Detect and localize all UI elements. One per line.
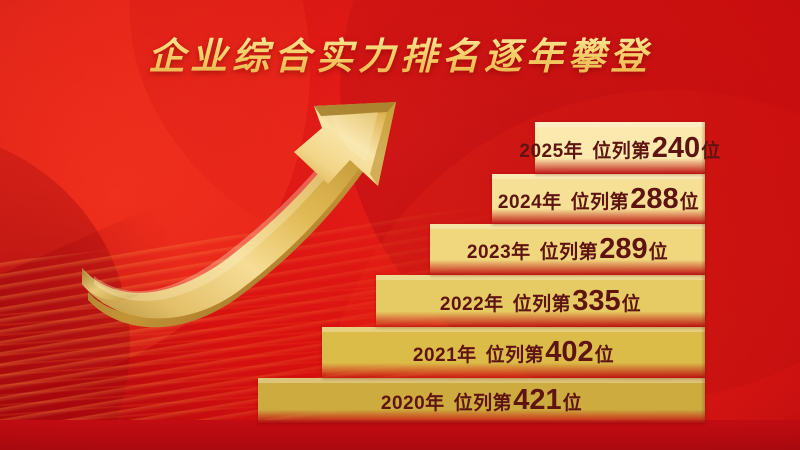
step-rank-value: 402 — [545, 338, 593, 367]
step-label: 2020年位列第421位 — [381, 386, 582, 415]
step-rank-value: 240 — [652, 134, 700, 163]
step-edge-shadow — [701, 174, 705, 224]
step-rank-suffix: 位 — [595, 340, 615, 367]
step-2023: 2023年位列第289位 — [430, 224, 705, 275]
step-rank-suffix: 位 — [563, 388, 583, 415]
step-tread — [492, 174, 705, 179]
step-label: 2024年位列第288位 — [498, 185, 699, 214]
step-rank-value: 421 — [513, 386, 561, 415]
step-tread — [322, 327, 705, 332]
step-edge-shadow — [701, 378, 705, 423]
step-tread — [258, 378, 705, 383]
step-year: 2024年 — [498, 187, 562, 214]
step-2022: 2022年位列第335位 — [376, 275, 705, 327]
step-rank-prefix: 位列第 — [486, 340, 545, 367]
step-year: 2021年 — [413, 340, 477, 367]
step-rank-value: 288 — [630, 185, 678, 214]
step-rank-value: 335 — [572, 287, 620, 316]
step-2020: 2020年位列第421位 — [258, 378, 705, 423]
step-year: 2025年 — [519, 136, 583, 163]
step-rank-prefix: 位列第 — [540, 237, 599, 264]
step-edge-shadow — [701, 327, 705, 378]
step-edge-shadow — [701, 275, 705, 327]
step-rank-prefix: 位列第 — [571, 187, 630, 214]
step-2021: 2021年位列第402位 — [322, 327, 705, 378]
step-rank-suffix: 位 — [701, 136, 721, 163]
staircase: 2020年位列第421位2021年位列第402位2022年位列第335位2023… — [0, 0, 800, 450]
step-label: 2023年位列第289位 — [467, 235, 668, 264]
step-year: 2022年 — [440, 289, 504, 316]
step-2025: 2025年位列第240位 — [535, 122, 705, 174]
step-year: 2020年 — [381, 388, 445, 415]
step-tread — [376, 275, 705, 280]
step-tread — [535, 122, 705, 127]
poster-canvas: 企业综合实力排名逐年攀登 — [0, 0, 800, 450]
step-rank-suffix: 位 — [622, 289, 642, 316]
step-rank-suffix: 位 — [649, 237, 669, 264]
step-rank-suffix: 位 — [680, 187, 700, 214]
step-2024: 2024年位列第288位 — [492, 174, 705, 224]
step-rank-prefix: 位列第 — [513, 289, 572, 316]
step-rank-prefix: 位列第 — [454, 388, 513, 415]
step-edge-shadow — [701, 224, 705, 275]
step-label: 2022年位列第335位 — [440, 287, 641, 316]
step-label: 2021年位列第402位 — [413, 338, 614, 367]
step-rank-prefix: 位列第 — [592, 136, 651, 163]
step-tread — [430, 224, 705, 229]
step-rank-value: 289 — [599, 235, 647, 264]
step-label: 2025年位列第240位 — [519, 134, 720, 163]
step-year: 2023年 — [467, 237, 531, 264]
